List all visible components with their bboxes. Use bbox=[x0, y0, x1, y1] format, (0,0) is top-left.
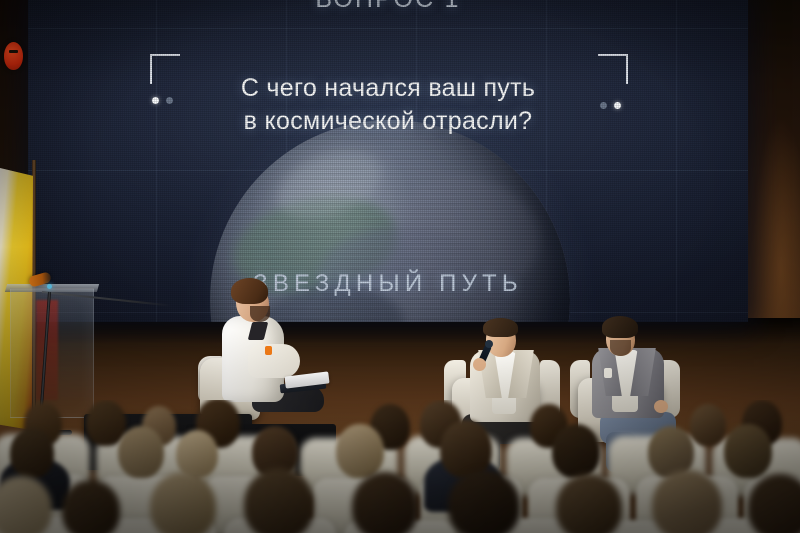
audience-head bbox=[176, 430, 218, 478]
audience-head bbox=[10, 428, 54, 478]
audience-head bbox=[652, 470, 722, 533]
emblem-detail bbox=[9, 50, 18, 53]
panelist-left-hand bbox=[473, 358, 486, 371]
handheld-microphone-head bbox=[485, 340, 493, 348]
screenshot-root: ВОПРОС 1 С чего начался ваш путь в косми… bbox=[0, 0, 800, 533]
panelist-right-hair bbox=[602, 316, 638, 338]
audience-head bbox=[448, 470, 520, 533]
microphone-led-indicator bbox=[47, 284, 52, 289]
audience-head bbox=[118, 426, 164, 478]
panelist-right-badge bbox=[604, 368, 612, 378]
moderator-beard bbox=[250, 306, 270, 322]
audience-head bbox=[724, 424, 772, 478]
audience-head bbox=[556, 474, 622, 533]
audience-head bbox=[244, 468, 314, 533]
audience-head bbox=[150, 472, 216, 533]
panelist-right-beard bbox=[610, 340, 631, 356]
audience-head bbox=[552, 424, 600, 478]
panelist-left-hair bbox=[483, 318, 518, 337]
moderator-hair bbox=[231, 278, 268, 304]
audience bbox=[0, 400, 800, 533]
moderator-badge bbox=[265, 346, 272, 355]
flag-emblem-icon bbox=[4, 42, 23, 70]
audience-head bbox=[62, 480, 120, 533]
audience-head bbox=[690, 404, 726, 446]
led-vignette bbox=[28, 0, 748, 322]
audience-head bbox=[352, 472, 418, 533]
led-presentation-screen: ВОПРОС 1 С чего начался ваш путь в косми… bbox=[28, 0, 748, 322]
audience-head bbox=[336, 424, 384, 478]
moderator-arm bbox=[248, 344, 300, 378]
